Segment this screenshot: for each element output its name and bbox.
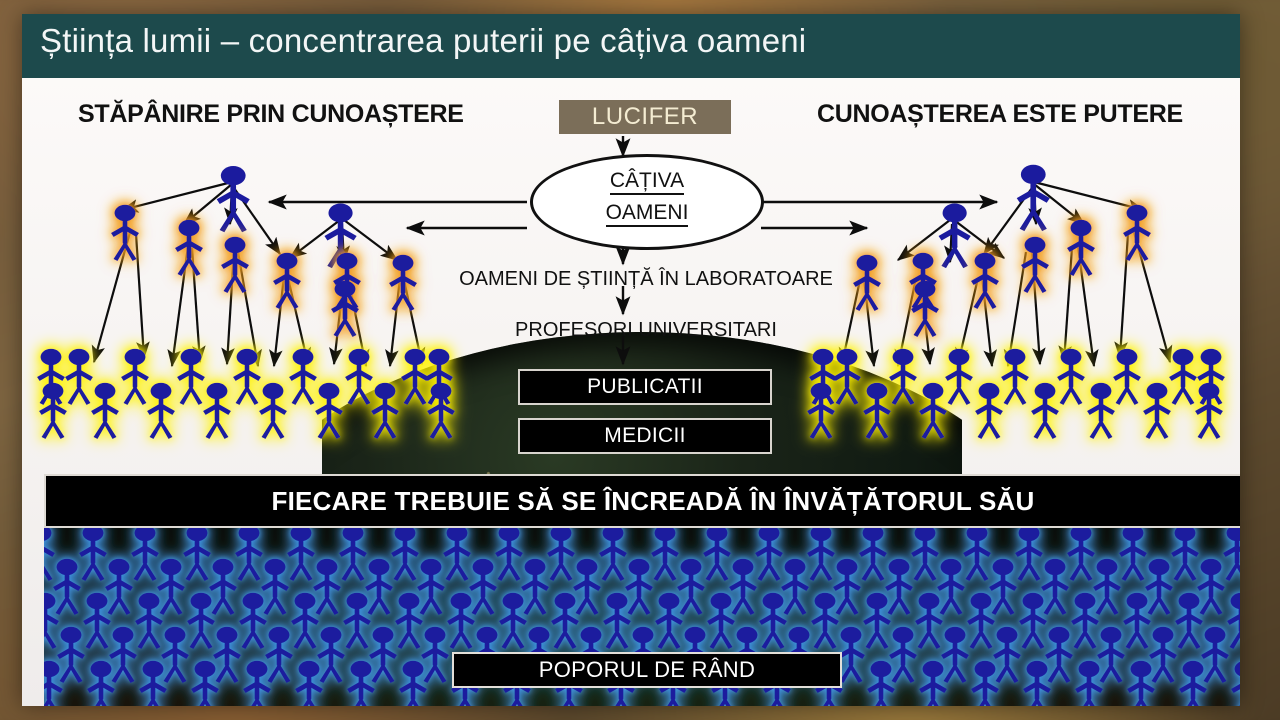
crowd-person — [57, 627, 85, 683]
crowd-person — [919, 661, 947, 706]
crowd-person — [369, 627, 397, 683]
crowd-person — [417, 559, 445, 615]
crowd-person — [287, 528, 315, 581]
banner-trust-teacher: FIECARE TREBUIE SĂ SE ÎNCREADĂ ÎN ÎNVĂȚĂ… — [44, 474, 1240, 528]
crowd-person — [989, 559, 1017, 615]
crowd-person — [1015, 528, 1043, 581]
crowd-person — [53, 559, 81, 615]
crowd-person — [867, 661, 895, 706]
crowd-person — [1171, 528, 1199, 581]
heading-left: STĂPÂNIRE PRIN CUNOAȘTERE — [78, 100, 464, 129]
crowd-person — [391, 528, 419, 581]
crowd-person — [1201, 627, 1229, 683]
crowd-person — [79, 528, 107, 581]
crowd-person — [755, 528, 783, 581]
banner-common-people: POPORUL DE RÂND — [452, 652, 842, 688]
crowd-person — [291, 593, 319, 649]
crowd-person — [625, 559, 653, 615]
crowd-person — [1023, 661, 1051, 706]
crowd-person — [295, 661, 323, 706]
crowd-person — [551, 593, 579, 649]
crowd-person — [1067, 528, 1095, 581]
crowd-person — [1071, 593, 1099, 649]
crowd-person — [161, 627, 189, 683]
box-doctors: MEDICII — [518, 418, 772, 454]
slide-title-bar: Științа lumii – concentrarea puterii pe … — [22, 14, 1240, 78]
crowd-person — [993, 627, 1021, 683]
crowd-person — [1075, 661, 1103, 706]
crowd-person — [1097, 627, 1125, 683]
crowd-person — [157, 559, 185, 615]
crowd-person — [183, 528, 211, 581]
crowd-person — [239, 593, 267, 649]
crowd-person — [911, 528, 939, 581]
crowd-person — [1197, 559, 1225, 615]
crowd-person — [833, 559, 861, 615]
crowd-person — [915, 593, 943, 649]
crowd-person — [971, 661, 999, 706]
crowd-person — [499, 593, 527, 649]
crowd-person — [261, 559, 289, 615]
crowd-person — [265, 627, 293, 683]
crowd-person — [677, 559, 705, 615]
crowd-person — [937, 559, 965, 615]
crowd-person — [399, 661, 427, 706]
crowd-person — [863, 593, 891, 649]
crowd-person — [655, 593, 683, 649]
crowd-person — [83, 593, 111, 649]
lower-tier-figures-right — [807, 349, 1225, 439]
crowd-person — [109, 627, 137, 683]
crowd-person — [131, 528, 159, 581]
crowd-person — [963, 528, 991, 581]
crowd-person — [1045, 627, 1073, 683]
crowd-person — [1231, 661, 1240, 706]
crowd-person — [135, 593, 163, 649]
crowd-person — [209, 559, 237, 615]
ellipse-line-2-text: OAMENI — [606, 201, 689, 227]
crowd-person — [44, 528, 55, 581]
crowd-person — [599, 528, 627, 581]
crowd-person — [235, 528, 263, 581]
crowd-person — [44, 661, 63, 706]
crowd-person — [347, 661, 375, 706]
crowd-person — [521, 559, 549, 615]
slide-canvas: STĂPÂNIRE PRIN CUNOAȘTERE CUNOAȘTEREA ES… — [22, 14, 1240, 706]
crowd-person — [1149, 627, 1177, 683]
crowd-person — [395, 593, 423, 649]
lower-tier-figures-left — [37, 349, 455, 439]
crowd-person — [243, 661, 271, 706]
crowd-person — [1123, 593, 1151, 649]
crowd-person — [759, 593, 787, 649]
crowd-person — [443, 528, 471, 581]
crowd-person — [889, 627, 917, 683]
crowd-person — [213, 627, 241, 683]
crowd-person — [313, 559, 341, 615]
crowd-person — [807, 528, 835, 581]
crowd-person — [967, 593, 995, 649]
crowd-person — [651, 528, 679, 581]
crowd-person — [447, 593, 475, 649]
crowd-person — [44, 593, 59, 649]
crowd-person — [191, 661, 219, 706]
heading-right: CUNOAȘTEREA ESTE PUTERE — [817, 100, 1183, 129]
crowd-person — [105, 559, 133, 615]
crowd-person — [859, 528, 887, 581]
crowd-person — [139, 661, 167, 706]
crowd-person — [707, 593, 735, 649]
page-title: Științа lumii – concentrarea puterii pe … — [40, 22, 806, 60]
crowd-person — [547, 528, 575, 581]
few-people-ellipse: CÂȚIVA OAMENI — [530, 154, 764, 250]
chain-label-professors: PROFESORI UNIVERSITARI — [346, 319, 946, 342]
crowd-person — [1179, 661, 1207, 706]
crowd-person — [1019, 593, 1047, 649]
slide-stage: STĂPÂNIRE PRIN CUNOAȘTERE CUNOAȘTEREA ES… — [0, 0, 1280, 720]
crowd-person — [573, 559, 601, 615]
crowd-person — [365, 559, 393, 615]
chain-label-scientists: OAMENI DE ȘTIINȚĂ ÎN LABORATOARE — [346, 268, 946, 291]
crowd-person — [1175, 593, 1203, 649]
crowd-person — [1119, 528, 1147, 581]
crowd-person — [317, 627, 345, 683]
crowd-person — [941, 627, 969, 683]
crowd-person — [703, 528, 731, 581]
crowd-person — [1041, 559, 1069, 615]
crowd-person — [339, 528, 367, 581]
crowd-person — [729, 559, 757, 615]
crowd-person — [1093, 559, 1121, 615]
ellipse-line-1: CÂȚIVA — [533, 169, 761, 193]
ellipse-line-2: OAMENI — [533, 201, 761, 225]
lucifer-box[interactable]: LUCIFER — [559, 100, 731, 134]
crowd-person — [885, 559, 913, 615]
crowd-person — [781, 559, 809, 615]
crowd-person — [811, 593, 839, 649]
crowd-person — [421, 627, 449, 683]
crowd-person — [603, 593, 631, 649]
crowd-person — [1227, 593, 1240, 649]
crowd-person — [1127, 661, 1155, 706]
crowd-person — [495, 528, 523, 581]
crowd-person — [1145, 559, 1173, 615]
box-publications: PUBLICATII — [518, 369, 772, 405]
ellipse-line-1-text: CÂȚIVA — [610, 169, 684, 195]
crowd-person — [469, 559, 497, 615]
crowd-person — [87, 661, 115, 706]
crowd-person — [343, 593, 371, 649]
crowd-person — [1223, 528, 1240, 581]
crowd-person — [187, 593, 215, 649]
